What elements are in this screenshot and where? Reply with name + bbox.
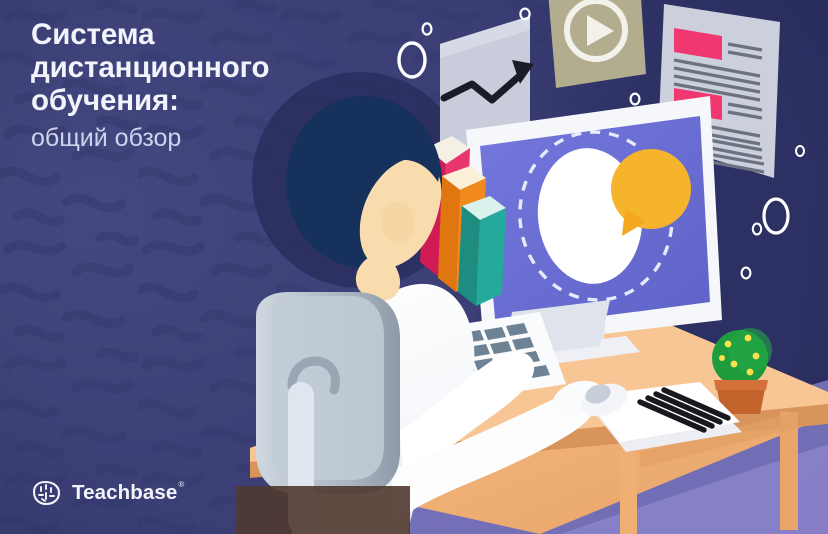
- floating-card-video: [548, 0, 646, 88]
- ear: [381, 201, 415, 243]
- chair-shadow-base: [236, 486, 410, 534]
- logo-wordmark: Teachbase®: [72, 481, 177, 505]
- brain-icon: [32, 480, 62, 506]
- brand-logo[interactable]: Teachbase®: [32, 480, 177, 506]
- slide-canvas: Система дистанционного обучения: общий о…: [0, 0, 828, 534]
- page-title: Система дистанционного обучения:: [31, 18, 391, 117]
- title-line-1: Система: [31, 18, 154, 51]
- trademark-symbol: ®: [178, 480, 184, 489]
- office-chair: [236, 292, 410, 534]
- desk-leg-mid: [620, 452, 637, 534]
- logo-text: Teachbase: [72, 481, 177, 504]
- title-line-3: обучения:: [31, 84, 179, 117]
- title-line-2: дистанционного: [31, 51, 269, 84]
- headline-block: Система дистанционного обучения: общий о…: [31, 18, 391, 153]
- page-subtitle: общий обзор: [31, 124, 391, 153]
